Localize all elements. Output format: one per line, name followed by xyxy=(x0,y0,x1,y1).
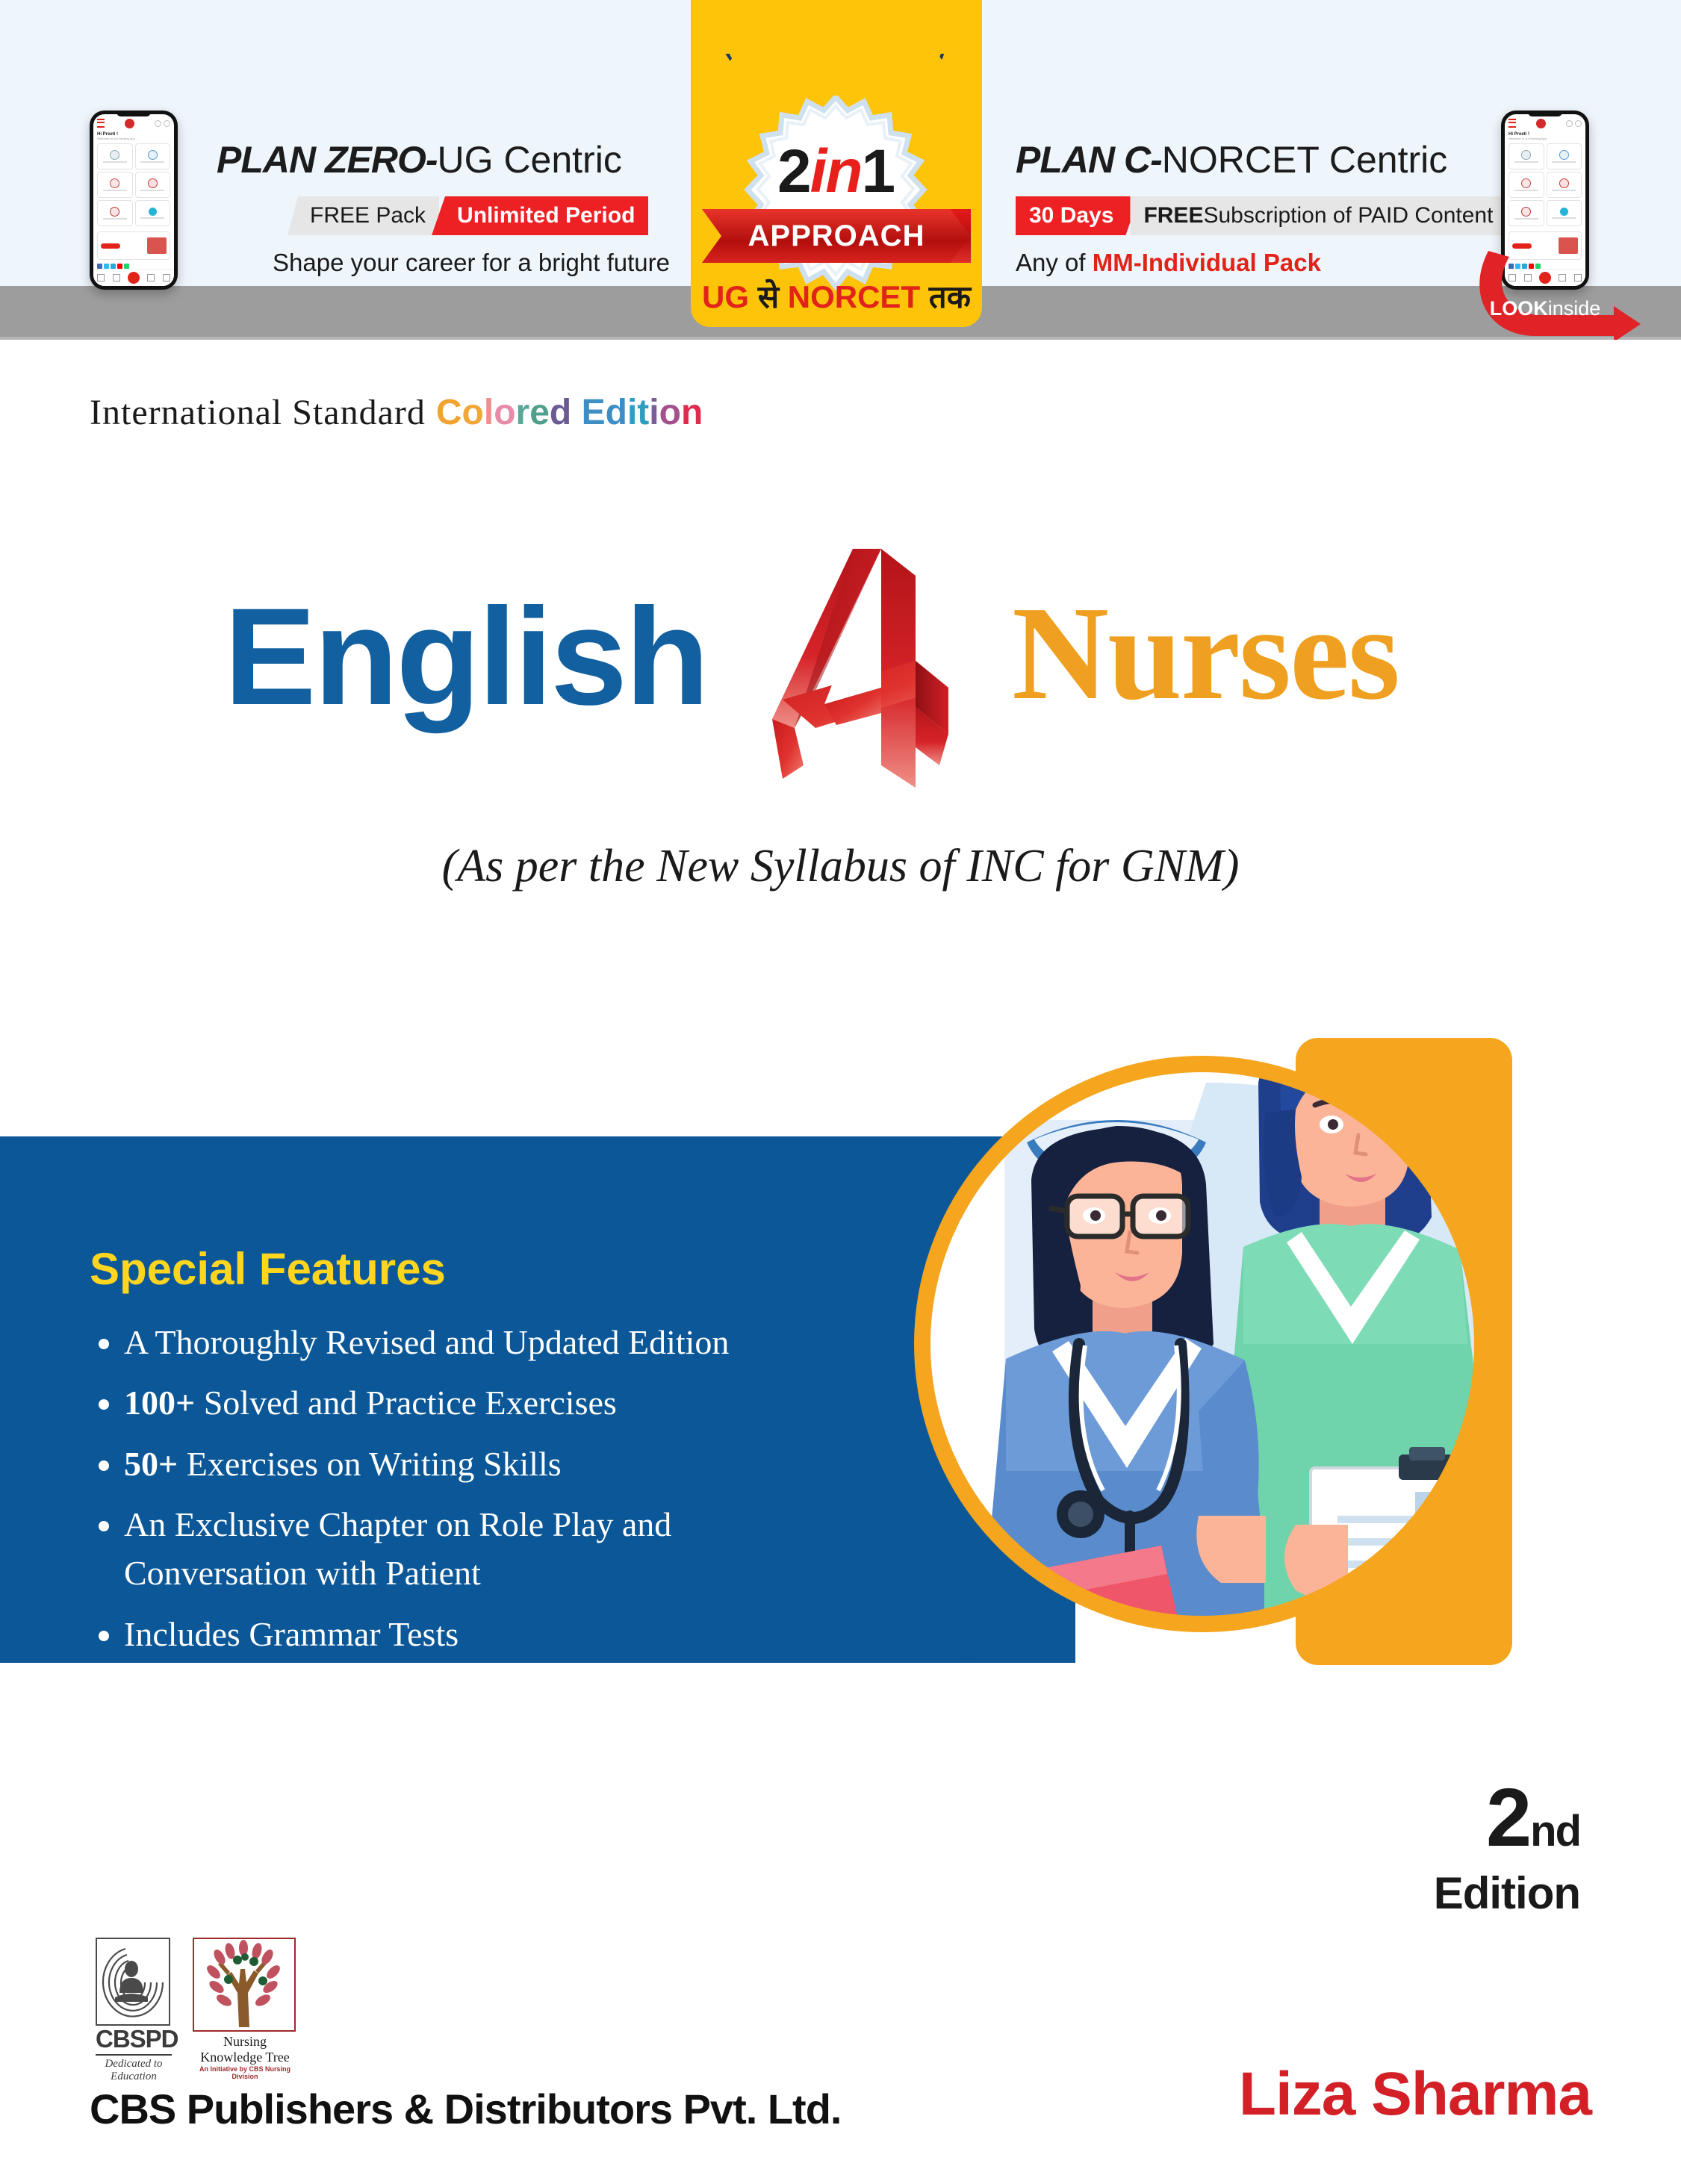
feature-bold: 100+ xyxy=(124,1384,195,1422)
colored-edition-letter: l xyxy=(484,392,494,433)
special-features-list: A Thoroughly Revised and Updated Edition… xyxy=(90,1318,781,1670)
edition-word: Edition xyxy=(1434,1869,1580,1918)
app-logo-icon xyxy=(1536,119,1546,128)
feature-text: Solved and Practice Exercises xyxy=(195,1384,617,1422)
badge-num-2: 2 xyxy=(777,137,810,205)
tree-logo-frame xyxy=(193,1938,296,2032)
phone-card-grid xyxy=(93,140,174,229)
app-logo-icon xyxy=(125,119,134,128)
colored-edition-letter: o xyxy=(494,392,515,433)
hamburger-icon xyxy=(97,119,105,128)
colored-edition-letter: o xyxy=(659,392,681,433)
phone-header-icons xyxy=(155,120,170,127)
phone-card xyxy=(97,200,133,226)
phone-card xyxy=(1508,200,1544,226)
ug-text: UG xyxy=(702,279,758,314)
plan-zero-title-strong: PLAN ZERO- xyxy=(217,139,438,181)
phone-app-header xyxy=(1505,114,1585,132)
plan-c-title-strong: PLAN C- xyxy=(1016,139,1162,181)
cart-icon xyxy=(113,274,120,281)
profile-icon xyxy=(147,274,155,281)
feature-item: A Thoroughly Revised and Updated Edition xyxy=(124,1318,781,1366)
plan-c-badge: 30 Days FREE Subscription of PAID Conten… xyxy=(1016,196,1515,235)
phone-header-icons xyxy=(1566,120,1582,127)
phone-card xyxy=(97,172,133,198)
plan-c-badge-days: 30 Days xyxy=(1016,196,1139,235)
book-icon xyxy=(163,274,170,281)
look-inside-arrow[interactable]: LOOKinside xyxy=(1475,246,1647,340)
look-inside-light: inside xyxy=(1548,297,1601,320)
tree-logo-subtitle: An Initiative by CBS Nursing Division xyxy=(193,2065,297,2080)
look-inside-bold: LOOK xyxy=(1490,297,1548,320)
feature-text: A Thoroughly Revised and Updated Edition xyxy=(124,1323,729,1361)
look-inside-label: LOOKinside xyxy=(1478,297,1612,320)
feature-text: An Exclusive Chapter on Role Play and Co… xyxy=(124,1505,671,1592)
approach-ribbon: APPROACH xyxy=(702,209,971,263)
phone-card xyxy=(1508,143,1544,169)
feature-text: Exercises on Writing Skills xyxy=(178,1445,561,1483)
edition-number-value: 2 xyxy=(1486,1772,1530,1864)
special-features-heading: Special Features xyxy=(90,1243,446,1295)
nursing-knowledge-tree-logo: Nursing Knowledge Tree An Initiative by … xyxy=(193,1938,297,2080)
app-icon xyxy=(128,272,140,284)
cbspd-logo-tagline: Dedicated to Education xyxy=(96,2056,172,2083)
phone-card xyxy=(1547,172,1582,198)
badge-num-1: 1 xyxy=(861,137,894,205)
norcet-text: NORCET xyxy=(788,279,929,314)
plan-zero-title: PLAN ZERO-UG Centric xyxy=(217,138,670,181)
feature-item: Includes Grammar Tests xyxy=(124,1610,781,1658)
edition-number: 2nd xyxy=(1434,1781,1580,1869)
author-name: Liza Sharma xyxy=(1239,2059,1591,2129)
phone-card-grid xyxy=(1505,140,1585,229)
nurses-illustration xyxy=(892,993,1512,1687)
plan-zero-subtitle: Shape your career for a bright future xyxy=(273,249,670,277)
colored-edition-letter: n xyxy=(681,392,703,433)
phone-card xyxy=(1547,200,1582,226)
phone-card xyxy=(135,172,171,198)
colored-edition-letter: e xyxy=(529,392,550,433)
plan-zero-block: PLAN ZERO-UG Centric FREE Pack Unlimited… xyxy=(217,138,670,277)
edition-ordinal: nd xyxy=(1530,1807,1580,1855)
colored-edition-letter: o xyxy=(462,392,484,433)
tree-logo-title: Nursing Knowledge Tree xyxy=(193,2032,297,2065)
plan-zero-badge: FREE Pack Unlimited Period xyxy=(288,196,648,235)
phone-card xyxy=(135,200,171,226)
colored-edition-letter: E xyxy=(582,392,606,433)
book-subtitle: (As per the New Syllabus of INC for GNM) xyxy=(0,840,1681,893)
approach-label: APPROACH xyxy=(702,209,971,263)
svg-text:ADDITIONAL OFFER: ADDITIONAL OFFER xyxy=(713,54,960,65)
phone-promo-image xyxy=(147,237,167,254)
international-standard-text: International Standard xyxy=(90,393,426,432)
hamburger-icon xyxy=(1508,119,1516,128)
title-word-nurses: Nurses xyxy=(1012,586,1399,721)
badge-in: in xyxy=(810,137,862,205)
feature-text: Includes Grammar Tests xyxy=(124,1615,459,1653)
phone-app-header xyxy=(93,114,174,132)
title-numeral-four-ribbon xyxy=(769,541,986,788)
colored-edition-text: Colored Edition xyxy=(436,393,703,432)
ug-to-norcet-tagline: UG से NORCET तक xyxy=(691,275,982,320)
feature-bold: 50+ xyxy=(124,1445,178,1483)
plan-zero-title-light: UG Centric xyxy=(438,139,622,181)
phone-notch xyxy=(1528,111,1562,116)
colored-edition-letter: i xyxy=(649,392,659,433)
phone-notch xyxy=(116,111,151,116)
phone-screen: Hi Preeti ! Welcome to our Nursing App xyxy=(93,114,174,286)
tak-text: तक xyxy=(929,279,971,314)
feature-item: 100+ Solved and Practice Exercises xyxy=(124,1378,781,1427)
cbspd-logo-name: CBSPD xyxy=(96,2026,172,2056)
colored-edition-letter: d xyxy=(550,392,571,433)
colored-edition-letter xyxy=(571,392,581,433)
promo-banner: Hi Preeti ! Welcome to our Nursing App xyxy=(0,0,1681,340)
phone-card xyxy=(1508,172,1544,198)
title-word-english: English xyxy=(224,590,707,724)
feature-item: 50+ Exercises on Writing Skills xyxy=(124,1440,781,1488)
plan-c-badge-desc: FREE Subscription of PAID Content xyxy=(1130,196,1515,235)
phone-card xyxy=(97,143,133,169)
phone-bottom-nav xyxy=(93,269,174,286)
colored-edition-letter: d xyxy=(606,392,627,433)
plan-c-title: PLAN C-NORCET Centric xyxy=(1016,138,1515,181)
colored-edition-letter: t xyxy=(637,392,649,433)
colored-edition-letter: i xyxy=(627,392,637,433)
phone-explore-button xyxy=(101,243,120,249)
edition-badge: 2nd Edition xyxy=(1434,1781,1580,1918)
plan-zero-badge-free: FREE Pack xyxy=(288,196,439,235)
plan-c-title-light: NORCET Centric xyxy=(1162,139,1447,181)
two-in-one-label: 2in1 xyxy=(736,138,936,205)
colored-edition-letter: r xyxy=(516,392,530,433)
se-text: से xyxy=(758,279,788,314)
cbspd-logo: CBSPD Dedicated to Education xyxy=(96,1938,172,2083)
phone-mockup-left: Hi Preeti ! Welcome to our Nursing App xyxy=(90,111,178,290)
feature-item: An Exclusive Chapter on Role Play and Co… xyxy=(124,1500,781,1598)
phone-card xyxy=(1547,143,1582,169)
colored-edition-letter: C xyxy=(436,392,462,433)
cbspd-logo-mark xyxy=(96,1938,170,2026)
publisher-logos: CBSPD Dedicated to Education xyxy=(96,1938,297,2083)
plan-c-sub-prefix: Any of xyxy=(1016,249,1093,276)
plan-c-block: PLAN C-NORCET Centric 30 Days FREE Subsc… xyxy=(1016,138,1515,277)
international-standard-line: International StandardColored Edition xyxy=(90,392,703,433)
home-icon xyxy=(97,274,105,281)
plan-c-badge-free: FREE xyxy=(1143,203,1203,228)
phone-card xyxy=(135,143,171,169)
phone-promo-card xyxy=(97,231,170,260)
plan-zero-badge-period: Unlimited Period xyxy=(432,196,648,235)
publisher-name: CBS Publishers & Distributors Pvt. Ltd. xyxy=(90,2085,841,2133)
book-title-row: English xyxy=(0,590,1681,724)
plan-c-subtitle: Any of MM-Individual Pack xyxy=(1016,249,1515,277)
plan-c-badge-rest: Subscription of PAID Content xyxy=(1203,203,1493,228)
plan-c-sub-highlight: MM-Individual Pack xyxy=(1093,249,1321,276)
